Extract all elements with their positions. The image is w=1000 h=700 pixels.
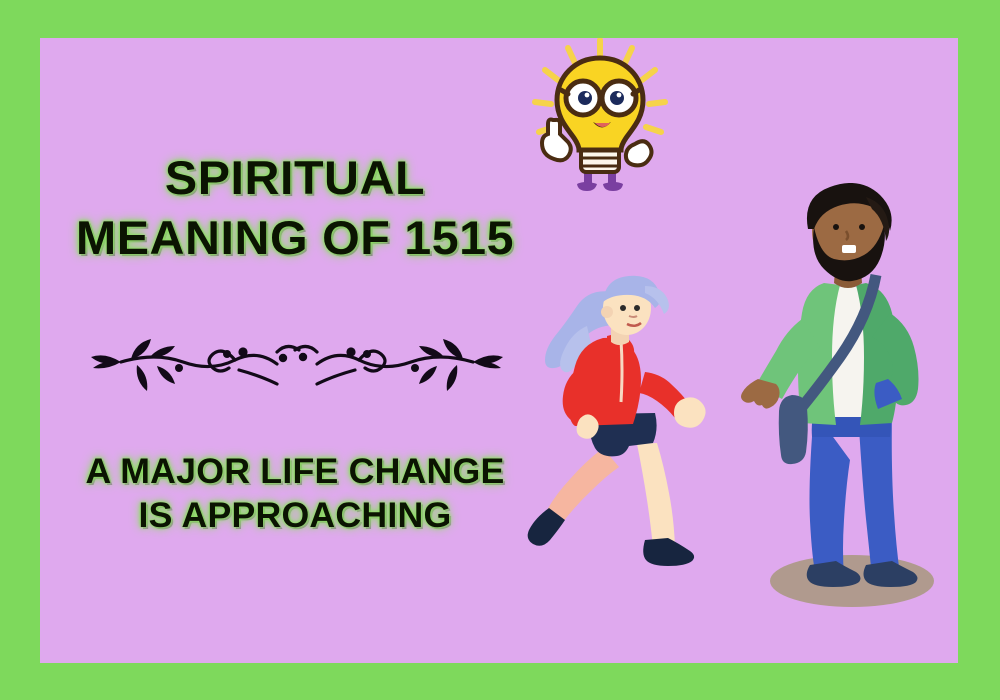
text-block: SPIRITUAL MEANING OF 1515	[40, 38, 560, 663]
bulb-base	[581, 142, 619, 172]
eye	[634, 305, 640, 311]
cardigan-right	[856, 283, 898, 425]
subtitle-line-1: A MAJOR LIFE CHANGE	[40, 450, 555, 494]
back-arm	[563, 368, 591, 423]
back-leg	[547, 448, 619, 522]
poster-frame: SPIRITUAL MEANING OF 1515	[0, 0, 1000, 700]
head	[603, 281, 651, 335]
hair-front	[603, 276, 660, 308]
front-hand	[674, 397, 706, 427]
lightbulb-icon	[515, 38, 685, 202]
right-glove	[626, 141, 652, 165]
eye	[620, 305, 626, 311]
bag-strap	[802, 275, 876, 407]
front-arm	[639, 372, 689, 418]
illustration-layer	[40, 38, 958, 663]
teeth	[842, 245, 856, 253]
neck	[834, 257, 862, 288]
back-shoe	[528, 508, 565, 546]
ground-shadow	[770, 555, 934, 607]
mouth	[593, 122, 611, 128]
ornamental-divider	[87, 328, 507, 392]
back-hand	[577, 414, 599, 438]
flourish-icon	[87, 328, 507, 392]
subtitle-line-2: IS APPROACHING	[40, 494, 555, 538]
left-glove-pointing	[542, 120, 571, 161]
messenger-bag	[779, 395, 808, 464]
page-subtitle: A MAJOR LIFE CHANGE IS APPROACHING	[40, 450, 555, 538]
mascot-feet	[577, 168, 623, 191]
front-leg	[637, 443, 675, 548]
nose	[846, 231, 848, 240]
title-line-2: MEANING OF 1515	[40, 208, 558, 268]
left-arm-sleeve	[756, 319, 820, 399]
ear	[601, 306, 613, 318]
right-shoe	[864, 561, 918, 587]
right-leg-jeans	[858, 411, 900, 577]
cardigan-left	[798, 283, 840, 425]
lightbulb-mascot	[515, 38, 685, 202]
neck	[611, 326, 629, 345]
head	[812, 191, 884, 271]
left-shoe	[807, 561, 861, 587]
eye	[833, 224, 839, 230]
left-hand	[741, 379, 780, 409]
man-figure	[740, 183, 958, 613]
bulb-glass	[557, 58, 643, 150]
page-title: SPIRITUAL MEANING OF 1515	[40, 148, 558, 267]
light-rays	[535, 40, 665, 132]
pocket	[874, 379, 902, 409]
front-shoe	[643, 538, 694, 566]
smile	[627, 323, 641, 326]
shorts	[590, 413, 657, 456]
left-leg-jeans	[810, 411, 851, 577]
running-woman-illustration	[495, 268, 735, 608]
shirt	[818, 287, 874, 417]
glasses-icon	[561, 81, 639, 115]
hair	[807, 183, 892, 231]
zipper	[621, 340, 622, 402]
right-arm-sleeve	[872, 313, 919, 405]
beard	[813, 225, 885, 281]
eye	[859, 224, 865, 230]
hair-back	[545, 291, 613, 368]
runner-figure	[495, 268, 735, 608]
standing-man-illustration	[740, 183, 958, 613]
title-line-1: SPIRITUAL	[40, 148, 558, 208]
jacket	[569, 338, 641, 426]
poster-canvas: SPIRITUAL MEANING OF 1515	[40, 38, 958, 663]
